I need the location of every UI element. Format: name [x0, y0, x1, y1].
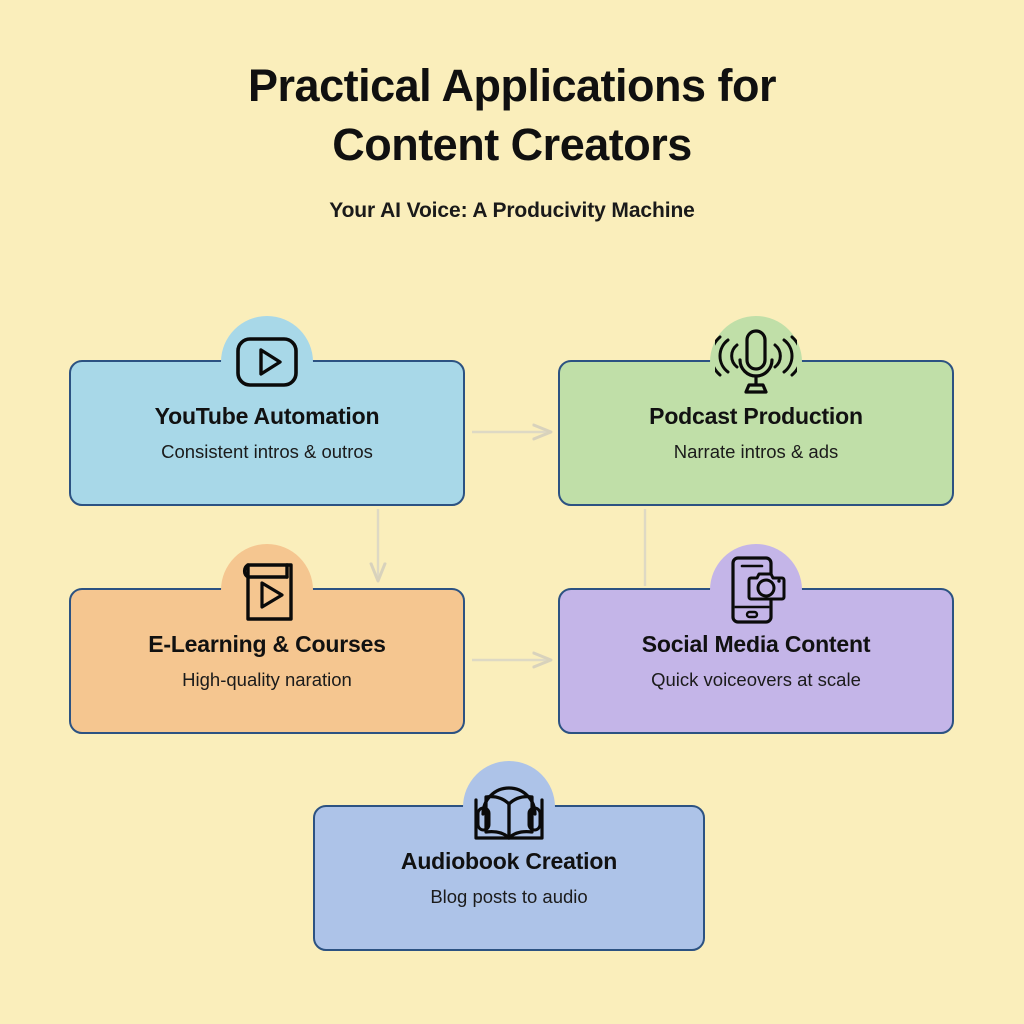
infographic-canvas: Practical Applications for Content Creat… [0, 0, 1024, 1024]
play-button-icon-badge [221, 316, 313, 408]
card-subtitle: Narrate intros & ads [674, 441, 839, 463]
card-subtitle: High-quality naration [182, 669, 352, 691]
play-button-icon [235, 336, 299, 388]
microphone-icon-badge [710, 316, 802, 408]
phone-camera-icon-badge [710, 544, 802, 636]
card-youtube-automation[interactable]: YouTube Automation Consistent intros & o… [69, 360, 465, 506]
page-title-line-1: Practical Applications for [130, 56, 894, 115]
book-play-icon-badge [221, 544, 313, 636]
card-social-media-content[interactable]: Social Media Content Quick voiceovers at… [558, 588, 954, 734]
card-podcast-production[interactable]: Podcast Production Narrate intros & ads [558, 360, 954, 506]
page-title: Practical Applications for Content Creat… [0, 56, 1024, 175]
card-subtitle: Consistent intros & outros [161, 441, 373, 463]
microphone-icon [715, 328, 797, 396]
book-headphones-icon [469, 770, 549, 844]
card-elearning-courses[interactable]: E-Learning & Courses High-quality narati… [69, 588, 465, 734]
card-subtitle: Blog posts to audio [430, 886, 587, 908]
phone-camera-icon [725, 555, 787, 625]
card-audiobook-creation[interactable]: Audiobook Creation Blog posts to audio [313, 805, 705, 951]
page-title-line-2: Content Creators [130, 115, 894, 174]
book-play-icon [238, 557, 296, 623]
page-subtitle: Your AI Voice: A Producivity Machine [0, 199, 1024, 223]
book-headphones-icon-badge [463, 761, 555, 853]
card-subtitle: Quick voiceovers at scale [651, 669, 861, 691]
header: Practical Applications for Content Creat… [0, 56, 1024, 223]
